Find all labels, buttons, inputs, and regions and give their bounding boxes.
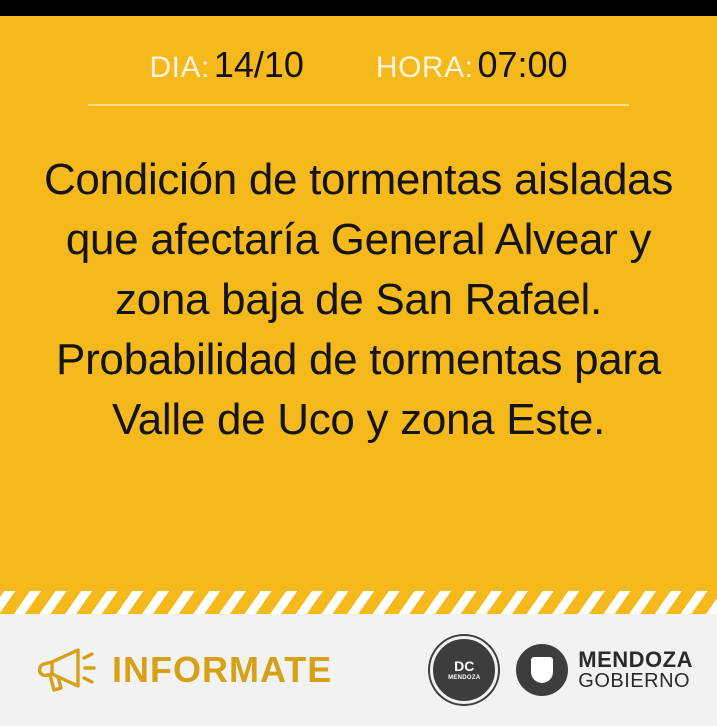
megaphone-icon bbox=[32, 642, 98, 698]
zigzag-divider bbox=[0, 588, 717, 614]
header-row: DIA: 14/10 HORA: 07:00 bbox=[0, 44, 717, 102]
alert-poster: DIA: 14/10 HORA: 07:00 Condición de torm… bbox=[0, 0, 717, 726]
header-divider bbox=[88, 104, 629, 106]
alert-message: Condición de tormentas aisladas que afec… bbox=[16, 150, 701, 450]
shield-icon bbox=[516, 644, 568, 696]
logo-line-1: MENDOZA bbox=[578, 648, 693, 671]
footer-logos: DC MENDOZA MENDOZA GOBIERNO bbox=[430, 636, 693, 704]
zigzag-top-mask bbox=[0, 588, 717, 591]
time-field: HORA: 07:00 bbox=[376, 44, 568, 86]
logo-text: MENDOZA GOBIERNO bbox=[578, 648, 693, 692]
time-value: 07:00 bbox=[477, 44, 567, 86]
mendoza-gobierno-logo: MENDOZA GOBIERNO bbox=[516, 644, 693, 696]
badge-initials: DC bbox=[454, 659, 474, 673]
footer-bar: INFORMATE DC MENDOZA MENDOZA GOBIERNO bbox=[0, 614, 717, 726]
top-black-bar bbox=[0, 0, 717, 16]
informate-label: INFORMATE bbox=[112, 649, 332, 691]
logo-line-2: GOBIERNO bbox=[578, 671, 693, 692]
time-label: HORA: bbox=[376, 51, 474, 85]
footer-cta: INFORMATE bbox=[32, 642, 332, 698]
date-label: DIA: bbox=[149, 51, 209, 85]
defensa-civil-badge: DC MENDOZA bbox=[430, 636, 498, 704]
badge-caption: MENDOZA bbox=[448, 675, 480, 681]
date-field: DIA: 14/10 bbox=[149, 44, 303, 86]
date-value: 14/10 bbox=[214, 44, 304, 86]
